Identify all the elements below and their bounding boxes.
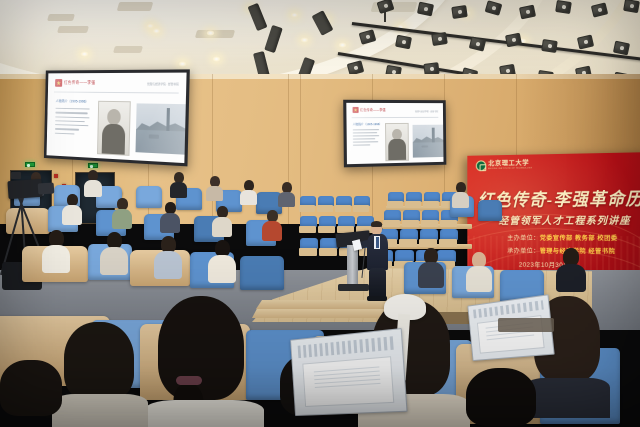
audience-member-foreground xyxy=(58,322,144,427)
ceiling-vent xyxy=(47,14,75,21)
hair-tie xyxy=(176,376,202,385)
hair xyxy=(0,360,62,416)
audience-member xyxy=(208,240,236,280)
torso xyxy=(112,209,132,229)
downlight xyxy=(206,30,215,36)
speaker xyxy=(366,222,390,300)
stage-light xyxy=(623,0,640,13)
rear-seat xyxy=(319,216,336,233)
torso xyxy=(452,192,469,208)
audience-member xyxy=(170,172,187,197)
audience-member-foreground xyxy=(148,296,260,427)
torso xyxy=(208,255,236,283)
student-laptop[interactable] xyxy=(290,328,407,416)
camera-lens xyxy=(38,182,55,194)
ceiling-vent xyxy=(195,30,235,38)
audience-member xyxy=(206,176,223,200)
university-emblem-icon xyxy=(476,160,486,171)
speaker-trousers xyxy=(369,268,386,298)
podium-column xyxy=(347,245,358,285)
speaker-hair xyxy=(371,221,382,227)
rear-seat xyxy=(300,216,317,233)
banner-logo-name-en: BEIJING INSTITUTE OF TECHNOLOGY xyxy=(488,168,532,171)
rear-seat xyxy=(354,196,370,212)
stage-light xyxy=(555,0,572,14)
projection-screen-left: 红色传奇——李强 管理与经济学院 · 经管书院 人物简介（1905-1996） xyxy=(44,69,190,166)
audience-member xyxy=(452,182,469,206)
downlight xyxy=(212,56,221,62)
stage-light xyxy=(451,5,468,19)
torso xyxy=(262,221,282,241)
exit-sign-icon xyxy=(88,163,98,168)
audience-member-foreground xyxy=(0,360,70,427)
audience-member xyxy=(262,210,282,240)
banner-university-logo: 北京理工大学 BEIJING INSTITUTE OF TECHNOLOGY xyxy=(476,159,532,171)
rear-seat xyxy=(440,229,458,247)
screen-glare xyxy=(47,73,187,164)
audience-member xyxy=(154,236,182,276)
audience-member xyxy=(112,198,132,228)
torso xyxy=(100,247,128,275)
hair xyxy=(158,296,244,400)
laptop-document xyxy=(303,356,394,407)
downlight xyxy=(290,12,299,18)
downlight xyxy=(338,42,347,48)
banner-logo-name-cn: 北京理工大学 xyxy=(488,160,532,167)
rear-seat xyxy=(406,192,422,208)
rear-seat xyxy=(300,196,316,212)
stage-light xyxy=(395,35,412,50)
podium-base xyxy=(338,284,369,291)
downlight xyxy=(178,61,187,67)
rear-seat xyxy=(318,196,334,212)
torso xyxy=(556,264,586,292)
camera-viewfinder xyxy=(11,172,21,179)
banner-host-value: 党委宣传部 教务部 校团委 xyxy=(540,235,618,242)
audience-member xyxy=(100,232,128,272)
audience-member xyxy=(160,202,180,232)
stage-light xyxy=(541,39,558,53)
audience-seat xyxy=(478,200,502,221)
downlight xyxy=(80,51,89,57)
stage-light xyxy=(431,32,448,46)
torso xyxy=(170,182,187,198)
torso xyxy=(84,180,102,197)
downlight xyxy=(300,37,309,43)
banner-subtitle: 经管领军人才工程系列讲座 xyxy=(499,212,631,227)
audience-member xyxy=(278,182,295,206)
laptop-keyboard-deck[interactable] xyxy=(498,318,554,332)
torso xyxy=(278,192,295,207)
rear-seat xyxy=(388,192,404,208)
rear-seat xyxy=(420,229,438,247)
audience-seat xyxy=(136,186,162,208)
laptop-toolbar xyxy=(298,336,395,358)
torso xyxy=(418,262,444,288)
audience-member xyxy=(466,252,492,290)
banner-title: 红色传奇-李强革命历程 xyxy=(478,184,640,211)
torso xyxy=(206,186,223,201)
rear-seat xyxy=(338,216,355,233)
ceiling-vent xyxy=(57,26,89,33)
shirt xyxy=(144,400,264,427)
lecture-hall-photo: 红色传奇——李强 管理与经济学院 · 经管书院 人物简介（1905-1996） xyxy=(0,0,640,427)
exit-sign-icon xyxy=(25,162,35,167)
torso xyxy=(212,217,232,237)
audience-member xyxy=(418,248,444,286)
torso xyxy=(160,213,180,233)
wall-panel-seam xyxy=(212,74,213,224)
audience-member xyxy=(556,248,586,290)
projection-screen-right: 红色传奇——李强 管理与经济学院 · 经管书院 人物简介（1905-1996） xyxy=(343,100,446,168)
rear-seat xyxy=(336,196,352,212)
microphone-stem xyxy=(361,248,365,278)
hair xyxy=(64,322,134,400)
ceiling-vent xyxy=(117,2,154,11)
torso xyxy=(62,205,82,225)
speaker-necktie xyxy=(376,237,379,248)
torso xyxy=(42,245,70,273)
rear-seat xyxy=(403,210,420,227)
ceiling-vent xyxy=(113,46,143,53)
audience-member-foreground xyxy=(462,368,542,427)
torso xyxy=(240,190,257,205)
banner-host-label: 主办单位： xyxy=(507,235,539,242)
downlight xyxy=(152,28,161,34)
rear-seat xyxy=(300,238,318,256)
audience-member xyxy=(62,194,82,224)
audience-member xyxy=(42,230,70,270)
audience-seat xyxy=(240,256,284,290)
banner-host-line: 主办单位：党委宣传部 教务部 校团委 xyxy=(507,233,617,242)
rear-seat xyxy=(400,229,418,247)
torso xyxy=(154,251,182,279)
screen-glare xyxy=(346,103,443,164)
laptop-screen[interactable] xyxy=(290,328,407,416)
rear-seat xyxy=(422,210,439,227)
audience-member xyxy=(240,180,257,204)
rear-seat xyxy=(424,192,440,208)
audience-member xyxy=(212,206,232,236)
audience-member xyxy=(84,170,102,196)
banner-organizer-label: 承办单位： xyxy=(507,248,539,255)
torso xyxy=(466,266,492,292)
hair xyxy=(466,368,536,426)
